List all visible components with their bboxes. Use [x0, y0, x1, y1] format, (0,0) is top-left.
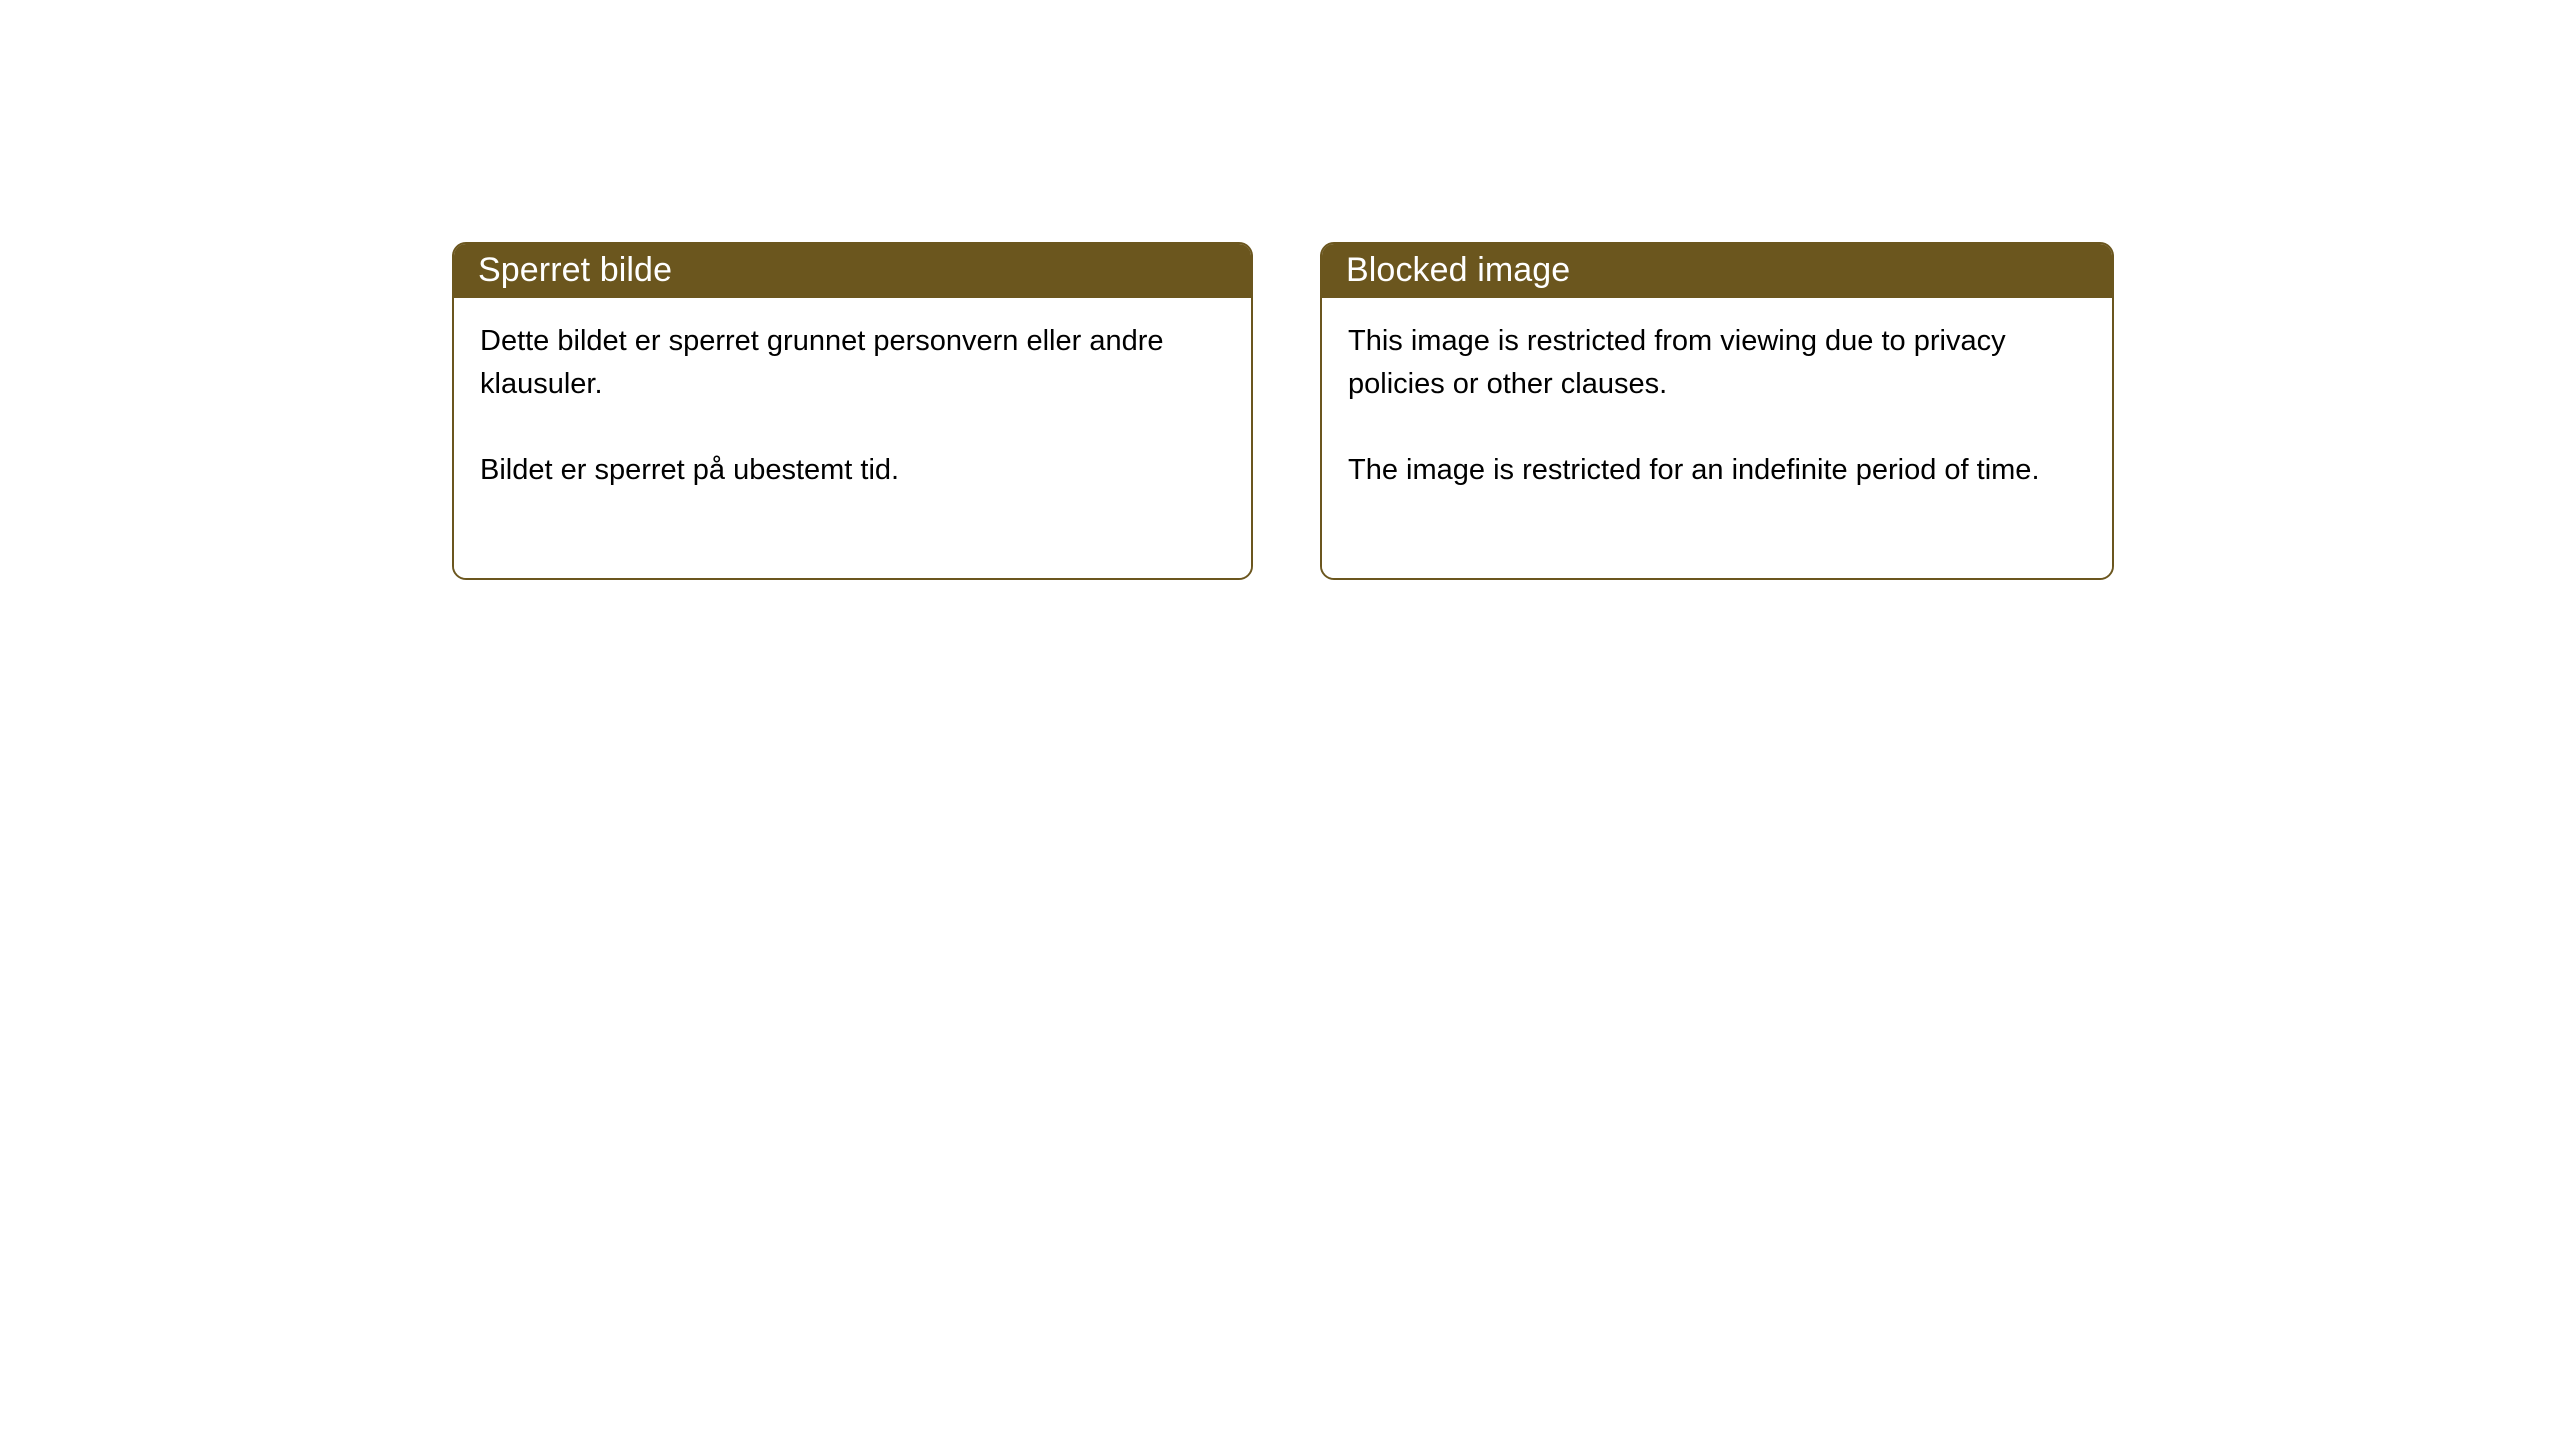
panel-body-norwegian: Dette bildet er sperret grunnet personve…	[454, 298, 1251, 578]
notice-paragraph-duration-english: The image is restricted for an indefinit…	[1348, 449, 2068, 492]
panel-header-norwegian: Sperret bilde	[452, 242, 1253, 298]
notice-paragraph-duration-norwegian: Bildet er sperret på ubestemt tid.	[480, 449, 1200, 492]
paragraph-spacer	[1348, 406, 2086, 449]
paragraph-spacer	[480, 406, 1225, 449]
panel-body-english: This image is restricted from viewing du…	[1322, 298, 2112, 578]
panel-header-english: Blocked image	[1320, 242, 2114, 298]
blocked-image-notice-english: Blocked image This image is restricted f…	[1320, 242, 2114, 580]
page-canvas: Sperret bilde Dette bildet er sperret gr…	[0, 0, 2560, 1440]
notice-paragraph-reason-norwegian: Dette bildet er sperret grunnet personve…	[480, 320, 1200, 406]
panel-title-norwegian: Sperret bilde	[478, 253, 672, 287]
panel-title-english: Blocked image	[1346, 253, 1570, 287]
notice-paragraph-reason-english: This image is restricted from viewing du…	[1348, 320, 2068, 406]
blocked-image-notice-norwegian: Sperret bilde Dette bildet er sperret gr…	[452, 242, 1253, 580]
